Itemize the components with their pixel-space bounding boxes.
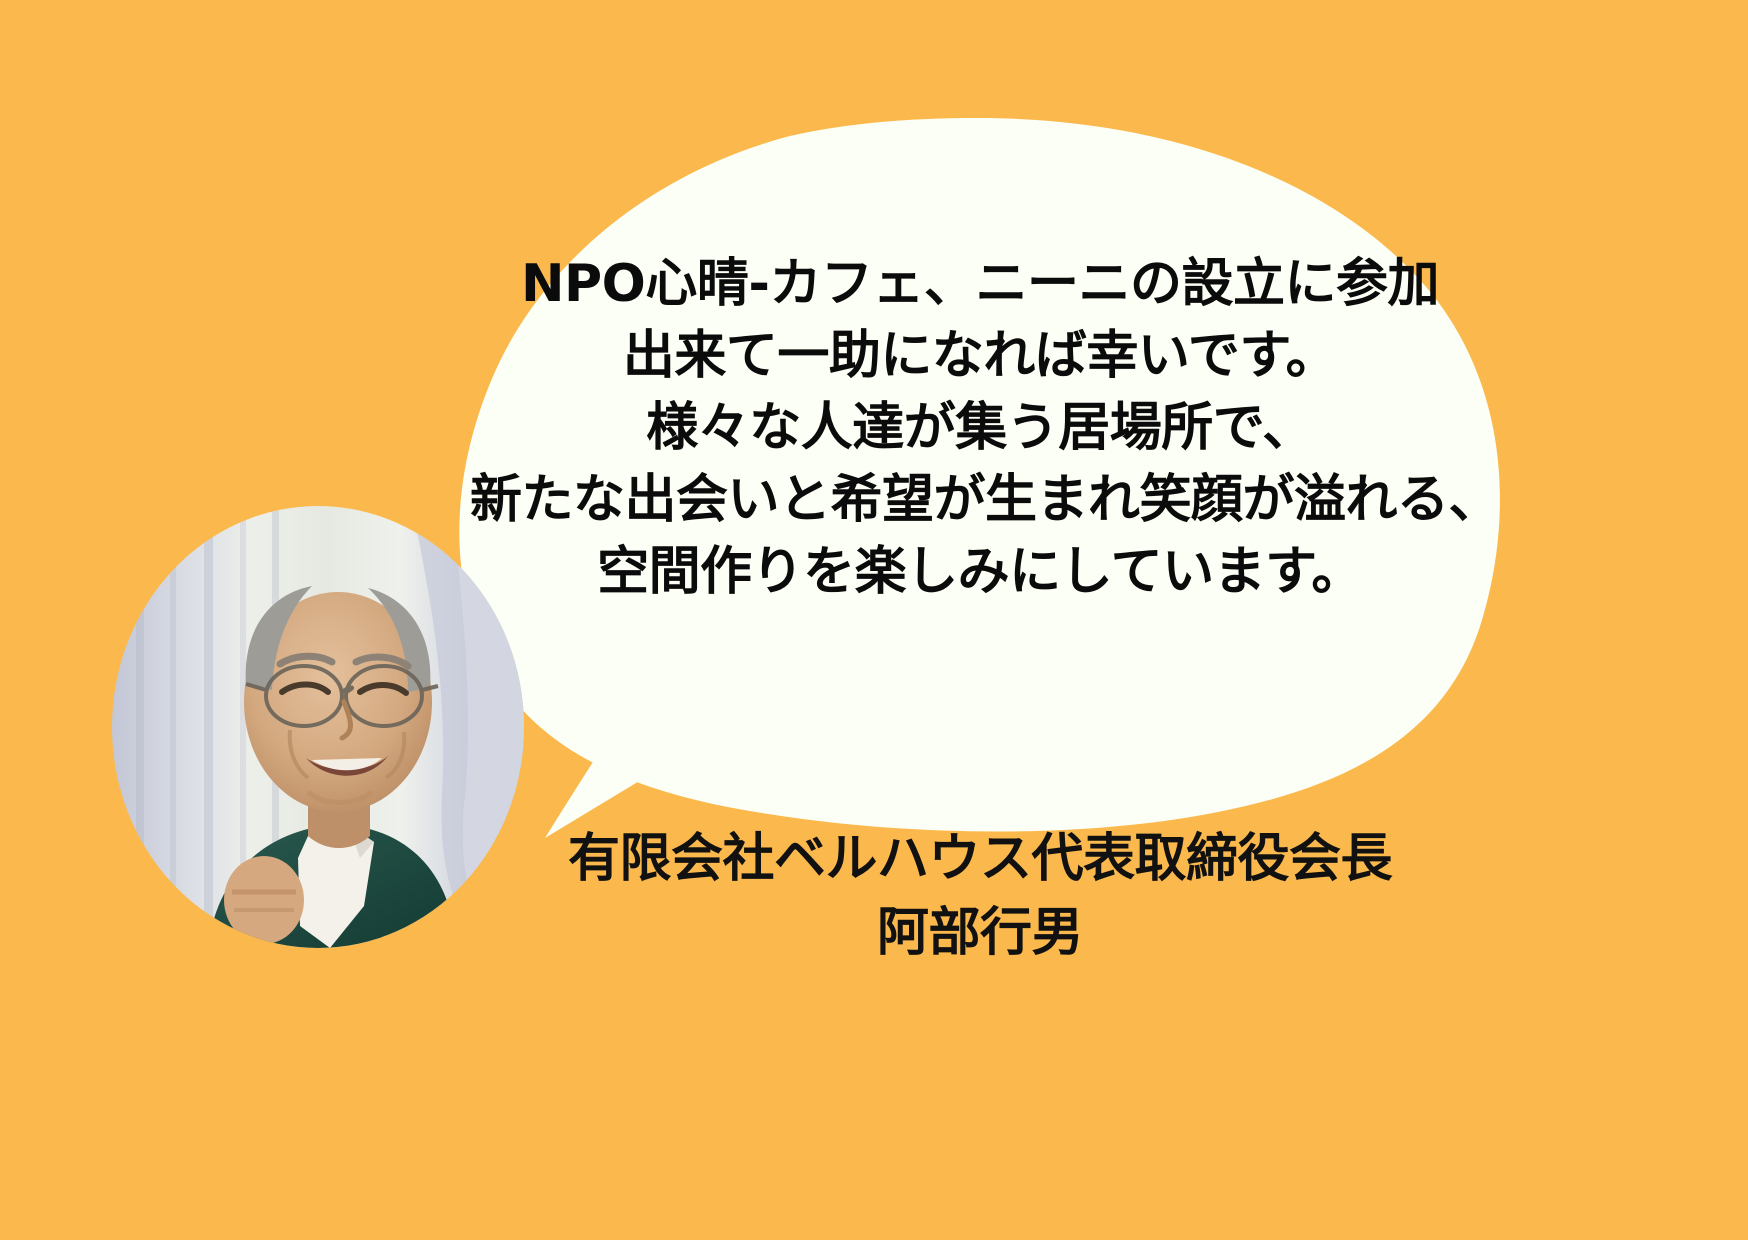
poster-canvas: NPO心晴-カフェ、ニーニの設立に参加 出来て一助になれば幸いです。 様々な人達…	[0, 0, 1748, 1240]
bubble-line-4: 新たな出会いと希望が生まれ笑顔が溢れる、	[470, 464, 1490, 536]
photo-fist	[224, 856, 304, 944]
attribution-name-line: 阿部行男	[470, 896, 1490, 970]
bubble-line-5: 空間作りを楽しみにしています。	[470, 536, 1490, 608]
attribution-block: 有限会社ベルハウス代表取締役会長 阿部行男	[470, 822, 1490, 970]
speech-bubble-text: NPO心晴-カフェ、ニーニの設立に参加 出来て一助になれば幸いです。 様々な人達…	[470, 248, 1490, 608]
speech-bubble-tail	[545, 600, 790, 838]
bubble-line-1: NPO心晴-カフェ、ニーニの設立に参加	[470, 248, 1490, 320]
attribution-title-line: 有限会社ベルハウス代表取締役会長	[470, 822, 1490, 896]
bubble-line-2: 出来て一助になれば幸いです。	[470, 320, 1490, 392]
bubble-line-3: 様々な人達が集う居場所で、	[470, 392, 1490, 464]
portrait-illustration	[112, 506, 524, 948]
portrait-photo	[112, 506, 524, 948]
